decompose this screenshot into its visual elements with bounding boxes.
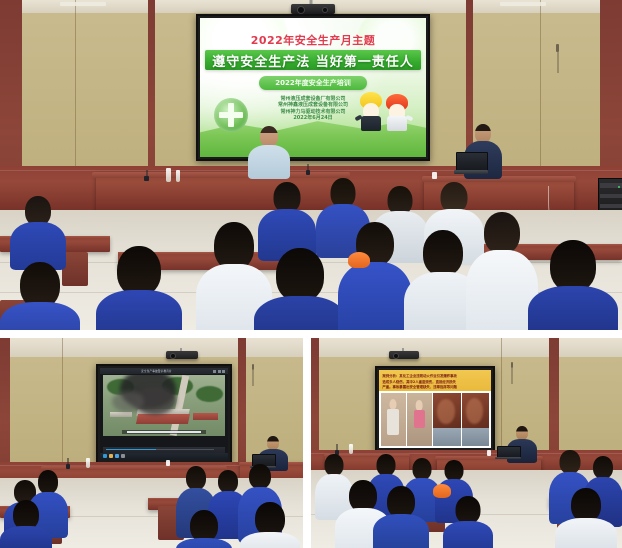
victim-body [414,410,425,429]
maximize-icon[interactable] [218,370,221,373]
projection-screen: 2022年安全生产月主题 遵守安全生产法 当好第一责任人 2022年度安全生产培… [196,14,430,161]
burn-wound-photo-2 [462,393,489,447]
ceiling-projector [389,351,419,359]
audience-torso [254,296,346,330]
audience-head [249,464,271,489]
conference-room-top: 2022年安全生产月主题 遵守安全生产法 当好第一责任人 2022年度安全生产培… [0,0,622,330]
factory-roof-2 [110,412,132,417]
audience-person-9 [443,496,493,548]
taskbar-icon-player[interactable] [121,454,125,458]
laptop-base [454,170,489,174]
minimize-icon[interactable] [213,370,216,373]
head-table-top [92,172,350,178]
accident-video-photo: 安全生产事故警示教育片 [0,338,303,548]
audience-person-11 [528,240,618,330]
officer-head [267,436,279,450]
ceiling-light-left [60,2,106,6]
close-icon[interactable] [222,370,225,373]
water-bottle-1 [86,458,90,468]
projection-screen-image: 案例分析：某化工企业违规动火作业引发爆炸事故 造成多人烧伤，其中2人重度烧伤，直… [379,370,491,448]
ceiling-light-right [500,2,546,6]
audience-head [255,502,285,536]
os-taskbar[interactable] [100,453,228,460]
subtitle-text-line [127,431,201,433]
audience-torso [0,302,80,330]
audience-person-7 [240,502,300,548]
video-player-window: 安全生产事故警示教育片 [100,368,228,460]
collage-gap-vertical [303,338,311,548]
officer-laptop [456,152,486,174]
desk-microphone-2 [306,170,310,175]
audience-person-13 [0,262,80,330]
burn-victim-photo-2 [407,393,432,447]
projector-lens-secondary [322,7,328,13]
wound-area [466,398,483,424]
rack-led [618,186,620,188]
audience-head [484,212,520,254]
slide-header-line-3: 严重。事故暴露出安全管理缺失、违章指挥等问题 [382,385,487,390]
audience-torso [176,538,232,548]
rack-unit-3 [600,204,621,208]
audience-torso [528,286,618,330]
audience-torso [338,262,412,330]
worker-body [387,116,407,130]
audience-head [456,496,481,524]
audience-person-8 [176,510,232,548]
audience-person-12 [96,246,182,330]
smoke-plume-3 [112,391,144,412]
collage-gap-horizontal [0,330,622,338]
laptop-base [495,457,521,459]
factory-building-2 [193,413,218,420]
speaker-torso [248,145,290,179]
player-window-title: 安全生产事故警示教育片 [100,369,213,373]
taskbar-icon-browser[interactable] [115,454,119,458]
audience-head [325,454,344,476]
projection-screen: 案例分析：某化工企业违规动火作业引发爆炸事故 造成多人烧伤，其中2人重度烧伤，直… [375,366,495,452]
slide-title-band-text: 遵守安全生产法 当好第一责任人 [212,51,414,70]
audience-head [413,458,432,480]
paper-cup [166,460,170,466]
conference-room-bottom-left: 安全生产事故警示教育片 [0,338,303,548]
factory-building-1 [136,414,190,424]
water-bottle-2 [176,170,180,182]
patient-sheet [462,428,489,446]
slide-title-band: 遵守安全生产法 当好第一责任人 [205,50,422,70]
water-bottle-1 [166,168,171,182]
room-ceiling [311,338,622,357]
audience-head [377,454,396,476]
audience-torso [555,518,617,548]
audience-person-8 [373,486,429,548]
slide-subtitle-text: 2022年度安全生产培训 [275,78,350,88]
rack-unit-2 [600,194,621,198]
speaker-head [260,126,278,147]
victim-figure [386,399,401,444]
video-subtitle-bar [122,430,206,434]
audience-torso [0,526,52,548]
projector-lens [170,353,176,359]
wall-hook [556,44,559,52]
audience-head [214,222,254,270]
slide-org-line-4: 2022年6月24日 [278,115,348,121]
projection-screen-image: 2022年安全生产月主题 遵守安全生产法 当好第一责任人 2022年度安全生产培… [200,18,426,157]
tree [196,386,223,402]
audience-head [560,450,581,474]
paper-cup [432,172,437,179]
audience-person-1 [10,196,66,266]
audience-head [445,460,464,481]
seek-bar[interactable] [106,449,214,450]
conference-room-bottom-right: 案例分析：某化工企业违规动火作业引发爆炸事故 造成多人烧伤，其中2人重度烧伤，直… [311,338,622,548]
burn-victim-photo-1 [381,393,406,447]
audience-head [571,488,601,522]
room-ceiling [0,338,303,357]
burn-injury-slide-photo: 案例分析：某化工企业违规动火作业引发爆炸事故 造成多人烧伤，其中2人重度烧伤，直… [311,338,622,548]
audience-torso [96,290,182,330]
yellow-helmet-worker-icon [360,92,382,130]
seek-progress [106,449,156,450]
audience-head [218,470,238,493]
ceiling-projector [291,4,335,14]
audience-head [276,248,324,302]
audience-person-6 [0,500,52,548]
wound-area [437,399,455,424]
burn-wound-photo-1 [433,393,461,447]
audience-person-7 [254,248,346,330]
taskbar-icon-folder[interactable] [109,454,113,458]
video-content-fire-scene [103,375,226,436]
audience-torso [443,521,493,548]
projection-screen-image: 安全生产事故警示教育片 [100,368,228,460]
slide-title-red: 2022年安全生产月主题 [200,32,426,48]
wall-hook [252,364,254,370]
burn-case-slide: 案例分析：某化工企业违规动火作业引发爆炸事故 造成多人烧伤，其中2人重度烧伤，直… [379,370,491,448]
orange-safety-helmet [348,252,370,268]
red-helmet-worker-icon [386,94,408,130]
slide-subtitle-pill: 2022年度安全生产培训 [259,76,367,90]
slide-org-line-3: 常州神力马驱动技术有限公司 [278,109,348,115]
worker-body [361,116,381,131]
green-safety-cross-icon [214,98,248,132]
officer-laptop [497,446,519,459]
slide-header-text: 案例分析：某化工企业违规动火作业引发爆炸事故 造成多人烧伤，其中2人重度烧伤，直… [379,370,491,391]
audience-head [423,230,463,276]
audience-head [117,246,161,296]
wall-hook [511,362,513,368]
desk-microphone [144,176,149,181]
player-titlebar: 安全生产事故警示教育片 [100,368,228,374]
audience-head [550,240,596,292]
projector-lens [393,353,399,359]
audience-torso [240,532,300,548]
laptop-screen [456,152,488,171]
dado-highlight [0,170,622,171]
victim-body [387,409,399,435]
patient-sheet [433,428,461,446]
audience-head [186,466,206,490]
paper-cup [487,450,491,456]
photo-collage: 2022年安全生产月主题 遵守安全生产法 当好第一责任人 2022年度安全生产培… [0,0,622,548]
audience-person-8 [338,222,412,330]
audience-torso [373,514,429,548]
safety-month-slide: 2022年安全生产月主题 遵守安全生产法 当好第一责任人 2022年度安全生产培… [200,18,426,157]
slide-org-line-2: 常州神鑫液压成套设备有限公司 [278,102,348,108]
water-bottle-1 [349,444,353,454]
main-training-photo: 2022年安全生产月主题 遵守安全生产法 当好第一责任人 2022年度安全生产培… [0,0,622,330]
officer-head [516,426,528,440]
audience-head [593,456,613,479]
audience-head [38,470,58,494]
slide-org-lines: 常州液压成套设备厂有限公司 常州神鑫液压成套设备有限公司 常州神力马驱动技术有限… [278,96,348,121]
projector-lens [297,6,305,14]
ceiling-projector [166,351,198,359]
victim-figure [412,400,427,444]
desk-microphone [66,464,70,469]
projection-screen: 安全生产事故警示教育片 [96,364,232,464]
window-buttons [213,370,228,373]
taskbar-icon-start[interactable] [103,454,107,458]
audience-person-10 [555,488,617,548]
orange-safety-helmet [433,484,451,498]
speaker-person [248,126,290,176]
